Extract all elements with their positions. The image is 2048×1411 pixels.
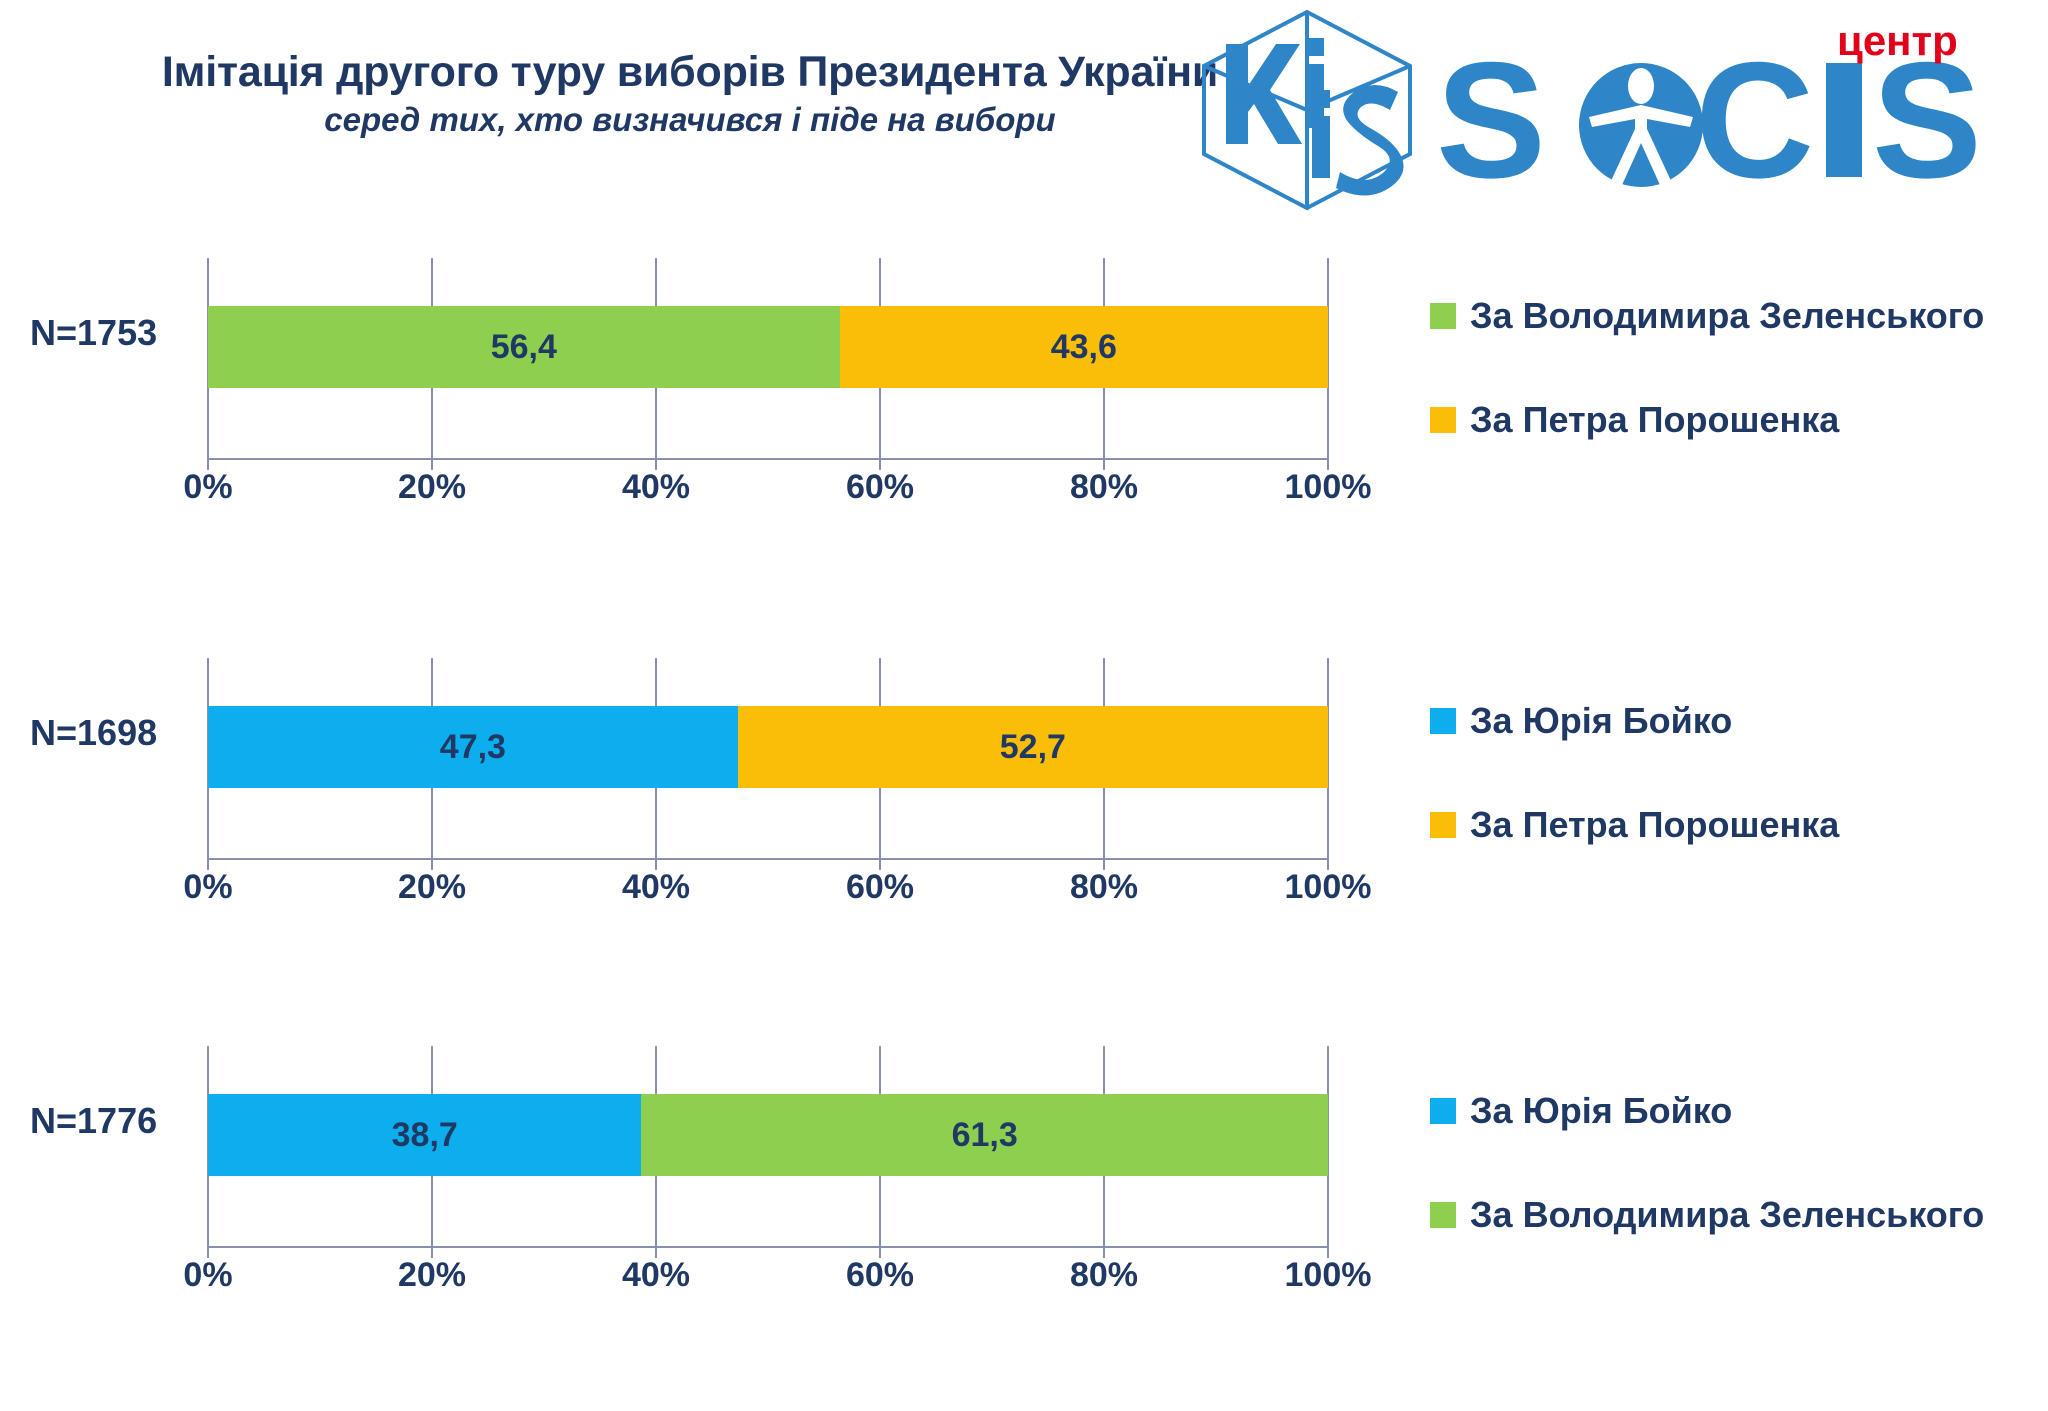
axis-tick-label: 100% — [1285, 468, 1372, 507]
svg-text:S: S — [1440, 28, 1546, 202]
plot-area: 38,761,3 — [208, 1046, 1328, 1246]
legend-item[interactable]: За Петра Порошенка — [1430, 399, 2030, 441]
legend-swatch-icon — [1430, 812, 1456, 838]
axis-tick-label: 40% — [622, 468, 690, 507]
bar-segment: 38,7 — [208, 1094, 641, 1176]
chart-legend: За Юрія БойкоЗа Володимира Зеленського — [1430, 1090, 2030, 1298]
legend-swatch-icon — [1430, 407, 1456, 433]
x-axis-line — [208, 1246, 1328, 1248]
axis-tick-label: 20% — [398, 1256, 466, 1295]
svg-text:центр: центр — [1837, 17, 1958, 64]
axis-tick-label: 0% — [183, 868, 232, 907]
bar-value-label: 38,7 — [392, 1116, 458, 1155]
sample-size-label: N=1698 — [30, 712, 220, 754]
kiis-logo — [1192, 4, 1422, 214]
bar-value-label: 52,7 — [1000, 728, 1066, 767]
legend-item[interactable]: За Юрія Бойко — [1430, 700, 2030, 742]
stacked-bar: 56,443,6 — [208, 306, 1328, 388]
axis-tick-label: 0% — [183, 1256, 232, 1295]
header: Імітація другого туру виборів Президента… — [0, 0, 2048, 230]
bar-segment: 52,7 — [738, 706, 1328, 788]
axis-tick-label: 60% — [846, 1256, 914, 1295]
page-title: Імітація другого туру виборів Президента… — [60, 48, 1320, 96]
socis-logo-wrap: S C S центр — [1440, 17, 2040, 202]
legend-item[interactable]: За Володимира Зеленського — [1430, 1194, 2030, 1236]
bar-segment: 56,4 — [208, 306, 840, 388]
title-block: Імітація другого туру виборів Президента… — [60, 48, 1320, 139]
bar-value-label: 47,3 — [440, 728, 506, 767]
axis-tick-label: 60% — [846, 468, 914, 507]
axis-tick-label: 40% — [622, 1256, 690, 1295]
x-axis-line — [208, 458, 1328, 460]
legend-item[interactable]: За Петра Порошенка — [1430, 804, 2030, 846]
axis-tick-label: 20% — [398, 468, 466, 507]
axis-tick-label: 100% — [1285, 1256, 1372, 1295]
bar-value-label: 43,6 — [1051, 328, 1117, 367]
plot-inner: 38,761,3 — [208, 1046, 1328, 1246]
axis-tick-label: 40% — [622, 868, 690, 907]
chart-legend: За Юрія БойкоЗа Петра Порошенка — [1430, 700, 2030, 908]
legend-label: За Петра Порошенка — [1470, 399, 1839, 441]
x-axis-tick-labels: 0%20%40%60%80%100% — [208, 868, 1328, 918]
page-subtitle: серед тих, хто визначився і піде на вибо… — [60, 102, 1320, 139]
plot-inner: 56,443,6 — [208, 258, 1328, 458]
stacked-bar: 38,761,3 — [208, 1094, 1328, 1176]
axis-tick-label: 80% — [1070, 868, 1138, 907]
bar-value-label: 61,3 — [952, 1116, 1018, 1155]
legend-item[interactable]: За Юрія Бойко — [1430, 1090, 2030, 1132]
plot-area: 56,443,6 — [208, 258, 1328, 458]
axis-tick-label: 0% — [183, 468, 232, 507]
x-axis-line — [208, 858, 1328, 860]
axis-tick-label: 20% — [398, 868, 466, 907]
x-axis-tick-labels: 0%20%40%60%80%100% — [208, 468, 1328, 518]
svg-text:C: C — [1695, 28, 1814, 202]
stacked-bar: 47,352,7 — [208, 706, 1328, 788]
bar-segment: 43,6 — [840, 306, 1328, 388]
sample-size-label: N=1753 — [30, 312, 220, 354]
chart-legend: За Володимира ЗеленськогоЗа Петра Пороше… — [1430, 295, 2030, 503]
logo-group: S C S центр — [1192, 4, 2040, 214]
legend-swatch-icon — [1430, 708, 1456, 734]
axis-tick-label: 80% — [1070, 468, 1138, 507]
legend-label: За Володимира Зеленського — [1470, 1194, 1984, 1236]
legend-item[interactable]: За Володимира Зеленського — [1430, 295, 2030, 337]
legend-label: За Володимира Зеленського — [1470, 295, 1984, 337]
axis-tick-label: 80% — [1070, 1256, 1138, 1295]
legend-swatch-icon — [1430, 303, 1456, 329]
legend-label: За Петра Порошенка — [1470, 804, 1839, 846]
bar-segment: 61,3 — [641, 1094, 1328, 1176]
socis-logo: S C S центр — [1440, 17, 2040, 202]
bar-value-label: 56,4 — [491, 328, 557, 367]
axis-tick-label: 60% — [846, 868, 914, 907]
sample-size-label: N=1776 — [30, 1100, 220, 1142]
x-axis-tick-labels: 0%20%40%60%80%100% — [208, 1256, 1328, 1306]
bar-segment: 47,3 — [208, 706, 738, 788]
legend-label: За Юрія Бойко — [1470, 700, 1732, 742]
legend-swatch-icon — [1430, 1098, 1456, 1124]
legend-label: За Юрія Бойко — [1470, 1090, 1732, 1132]
plot-inner: 47,352,7 — [208, 658, 1328, 858]
legend-swatch-icon — [1430, 1202, 1456, 1228]
axis-tick-label: 100% — [1285, 868, 1372, 907]
plot-area: 47,352,7 — [208, 658, 1328, 858]
